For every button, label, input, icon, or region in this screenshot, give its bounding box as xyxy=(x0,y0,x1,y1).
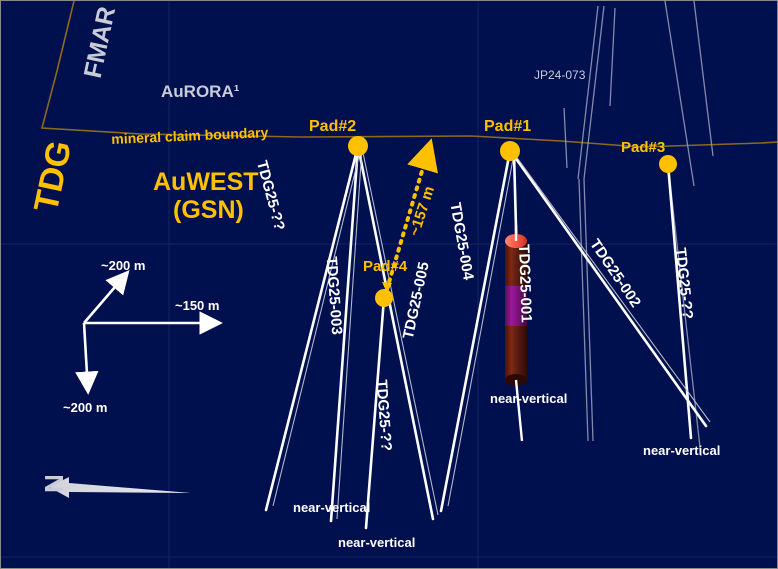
claim-label-auwest-line2: (GSN) xyxy=(173,198,244,223)
near-vertical-label-4: near-vertical xyxy=(643,444,720,457)
scale-label-down: ~200 m xyxy=(63,401,107,414)
north-arrow-label: N xyxy=(41,474,67,493)
scale-bar-down xyxy=(84,323,88,391)
near-vertical-label-2: near-vertical xyxy=(338,536,415,549)
pad-label-pad-2[interactable]: Pad#2 xyxy=(309,119,356,135)
scale-bar-up xyxy=(84,273,127,323)
map-canvas xyxy=(1,1,778,569)
mineral-claim-boundary-line xyxy=(42,1,778,147)
pad-marker-pad-3 xyxy=(659,155,677,173)
north-arrow xyxy=(49,477,191,498)
scale-bars xyxy=(84,273,219,391)
drillhole-label-tdg25-001: TDG25-001 xyxy=(516,244,534,323)
pad-label-pad-3[interactable]: Pad#3 xyxy=(621,140,665,155)
claim-label-auwest-line1: AuWEST xyxy=(153,170,259,195)
historic-drill-traces xyxy=(564,1,713,456)
historic-hole-label-jp24-073: JP24-073 xyxy=(534,69,585,81)
pad-marker-pad-2 xyxy=(348,136,368,156)
near-vertical-label-3: near-vertical xyxy=(490,392,567,405)
claim-label-aurora: AuRORA¹ xyxy=(161,83,239,100)
pad-marker-pad-4 xyxy=(375,289,393,307)
scale-label-up: ~200 m xyxy=(101,259,145,272)
pad-label-pad-1[interactable]: Pad#1 xyxy=(484,119,531,135)
drill-plan-map: FMAR AuRORA¹ TDG AuWEST (GSN) mineral cl… xyxy=(0,0,778,569)
near-vertical-label-1: near-vertical xyxy=(293,501,370,514)
scale-label-right: ~150 m xyxy=(175,299,219,312)
pad-label-pad-4[interactable]: Pad#4 xyxy=(363,259,407,274)
drillhole-lines xyxy=(266,146,706,528)
pad-marker-pad-1 xyxy=(500,141,520,161)
